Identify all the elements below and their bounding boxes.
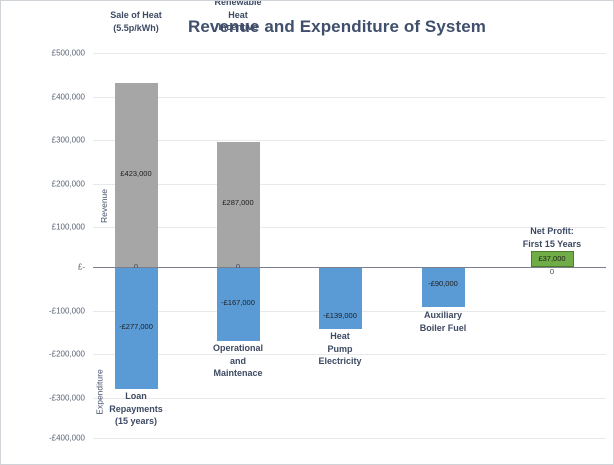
- chart-container: Revenue and Expenditure of System Sale o…: [0, 0, 614, 465]
- y-tick-label: -£300,000: [15, 393, 85, 402]
- y-tick-label: £500,000: [15, 49, 85, 58]
- chart-title: Revenue and Expenditure of System: [1, 17, 614, 37]
- y-tick-label: £100,000: [15, 223, 85, 232]
- gridline-minus400000: [93, 438, 606, 439]
- y-tick-label: £-: [15, 263, 85, 272]
- axis-title-expenditure: Expenditure: [95, 369, 105, 414]
- y-tick-label: -£400,000: [15, 434, 85, 443]
- category-label-line: Renewable: [214, 0, 261, 7]
- category-label-line: (5.5p/kWh): [113, 23, 159, 33]
- category-label-renewable-heat-incentive: Renewable Heat Incentive: [214, 0, 261, 34]
- y-tick-label: £200,000: [15, 179, 85, 188]
- y-tick-label: £300,000: [15, 136, 85, 145]
- y-tick-label: -£100,000: [15, 306, 85, 315]
- category-label-line: Sale of Heat: [110, 10, 162, 20]
- category-label-line: Incentive: [218, 22, 257, 32]
- category-label-sale-of-heat: Sale of Heat (5.5p/kWh): [110, 9, 162, 34]
- y-tick-label: -£200,000: [15, 350, 85, 359]
- category-label-line: Heat: [228, 10, 248, 20]
- y-tick-label: £400,000: [15, 92, 85, 101]
- axis-title-revenue: Revenue: [99, 189, 109, 223]
- y-axis: £500,000 £400,000 £300,000 £200,000 £100…: [93, 53, 606, 438]
